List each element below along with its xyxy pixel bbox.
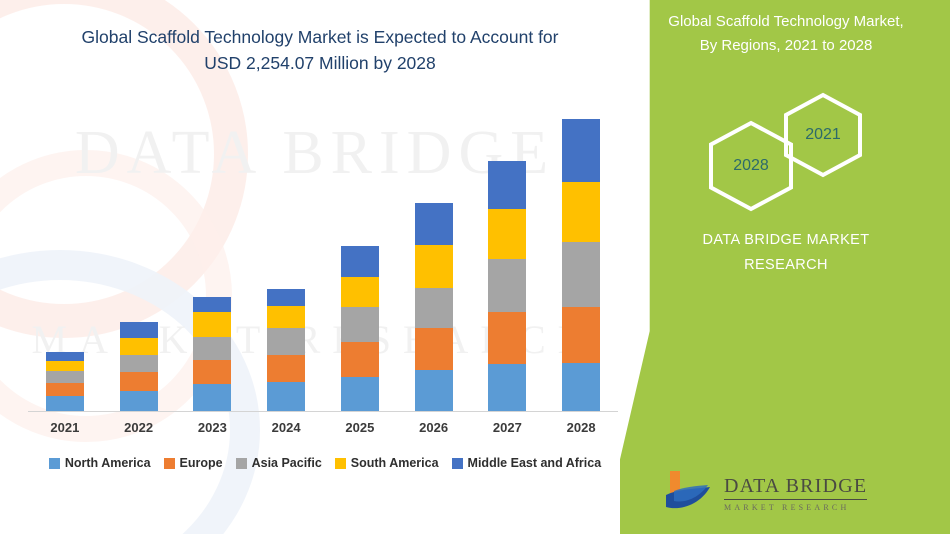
chart-title-line-2: USD 2,254.07 Million by 2028 [30, 50, 610, 76]
bar-segment[interactable] [415, 288, 453, 329]
bar-segment[interactable] [562, 363, 600, 411]
legend-item[interactable]: South America [335, 456, 439, 470]
x-axis-tick-label: 2021 [29, 420, 101, 435]
legend-item[interactable]: Europe [164, 456, 223, 470]
hexagon-start-year-label: 2021 [805, 126, 841, 144]
brand-tagline-line-1: DATA BRIDGE MARKET [640, 228, 932, 253]
bar-segment[interactable] [488, 209, 526, 258]
hexagon-end-year-label: 2028 [733, 157, 769, 175]
bar-column[interactable] [250, 289, 322, 411]
bar-segment[interactable] [267, 382, 305, 411]
x-axis-labels: 20212022202320242025202620272028 [28, 420, 618, 435]
bar-column[interactable] [545, 119, 617, 411]
x-axis-tick-label: 2024 [250, 420, 322, 435]
x-axis-tick-label: 2023 [176, 420, 248, 435]
panel-title-line-1: Global Scaffold Technology Market, [636, 10, 936, 34]
legend-item[interactable]: Asia Pacific [236, 456, 322, 470]
chart-title-line-1: Global Scaffold Technology Market is Exp… [30, 24, 610, 50]
chart-title: Global Scaffold Technology Market is Exp… [30, 24, 610, 76]
legend-swatch-icon [236, 458, 247, 469]
x-axis-tick-label: 2028 [545, 420, 617, 435]
bar-segment[interactable] [193, 384, 231, 411]
bar-segment[interactable] [120, 355, 158, 372]
logo-name: DATA BRIDGE [724, 475, 867, 500]
data-bridge-logo: DATA BRIDGE MARKET RESEARCH [660, 463, 910, 523]
bar-segment[interactable] [488, 259, 526, 313]
bar-segment[interactable] [120, 391, 158, 411]
x-axis-tick-label: 2022 [103, 420, 175, 435]
bar-segment[interactable] [341, 307, 379, 342]
legend-label: Middle East and Africa [468, 456, 602, 470]
bar-column[interactable] [471, 161, 543, 411]
bar-segment[interactable] [341, 246, 379, 277]
bar-segment[interactable] [46, 361, 84, 372]
legend-label: North America [65, 456, 151, 470]
bar-segment[interactable] [488, 312, 526, 363]
legend-item[interactable]: Middle East and Africa [452, 456, 602, 470]
chart-legend: North AmericaEuropeAsia PacificSouth Ame… [28, 456, 622, 470]
bar-column[interactable] [176, 297, 248, 411]
year-badges: 2028 2021 [620, 92, 950, 210]
bar-group [28, 100, 618, 411]
bar-segment[interactable] [488, 161, 526, 209]
bar-segment[interactable] [193, 360, 231, 385]
bar-segment[interactable] [562, 242, 600, 307]
panel-title-line-2: By Regions, 2021 to 2028 [636, 34, 936, 58]
bar-segment[interactable] [341, 277, 379, 307]
legend-swatch-icon [49, 458, 60, 469]
bar-column[interactable] [29, 352, 101, 411]
bar-segment[interactable] [267, 306, 305, 329]
bar-segment[interactable] [120, 338, 158, 355]
bar-column[interactable] [324, 246, 396, 411]
plot-area [28, 100, 618, 412]
x-axis-tick-label: 2027 [471, 420, 543, 435]
bar-segment[interactable] [267, 355, 305, 382]
bar-column[interactable] [103, 322, 175, 411]
x-axis-tick-label: 2026 [398, 420, 470, 435]
logo-subtitle: MARKET RESEARCH [724, 503, 867, 512]
bar-segment[interactable] [267, 328, 305, 355]
bar-segment[interactable] [120, 322, 158, 338]
bar-segment[interactable] [267, 289, 305, 306]
chart-panel: Global Scaffold Technology Market is Exp… [0, 0, 640, 534]
bar-segment[interactable] [193, 297, 231, 312]
legend-swatch-icon [335, 458, 346, 469]
x-axis-tick-label: 2025 [324, 420, 396, 435]
x-axis-line [28, 411, 618, 412]
legend-swatch-icon [164, 458, 175, 469]
bar-segment[interactable] [46, 383, 84, 396]
bar-segment[interactable] [415, 245, 453, 288]
bar-segment[interactable] [415, 328, 453, 370]
legend-swatch-icon [452, 458, 463, 469]
logo-mark-icon [660, 465, 716, 521]
bar-segment[interactable] [488, 364, 526, 411]
bar-segment[interactable] [341, 377, 379, 411]
bar-segment[interactable] [562, 307, 600, 363]
panel-title: Global Scaffold Technology Market, By Re… [636, 10, 936, 58]
legend-label: Asia Pacific [252, 456, 322, 470]
bar-segment[interactable] [341, 342, 379, 376]
brand-tagline-line-2: RESEARCH [640, 253, 932, 278]
bar-segment[interactable] [46, 352, 84, 361]
bar-segment[interactable] [120, 372, 158, 390]
bar-segment[interactable] [46, 371, 84, 383]
bar-column[interactable] [398, 203, 470, 411]
legend-label: Europe [180, 456, 223, 470]
logo-wordmark: DATA BRIDGE MARKET RESEARCH [724, 475, 867, 512]
brand-tagline: DATA BRIDGE MARKET RESEARCH [640, 228, 932, 278]
bar-segment[interactable] [193, 337, 231, 360]
bar-segment[interactable] [193, 312, 231, 337]
legend-label: South America [351, 456, 439, 470]
hexagon-badge-start-year: 2021 [780, 92, 866, 178]
bar-segment[interactable] [562, 119, 600, 181]
infographic-root: DATA BRIDGE MARKET RESEARCH Global Scaff… [0, 0, 950, 534]
bar-segment[interactable] [46, 396, 84, 411]
bar-segment[interactable] [562, 182, 600, 242]
bar-segment[interactable] [415, 203, 453, 245]
legend-item[interactable]: North America [49, 456, 151, 470]
bar-segment[interactable] [415, 370, 453, 411]
